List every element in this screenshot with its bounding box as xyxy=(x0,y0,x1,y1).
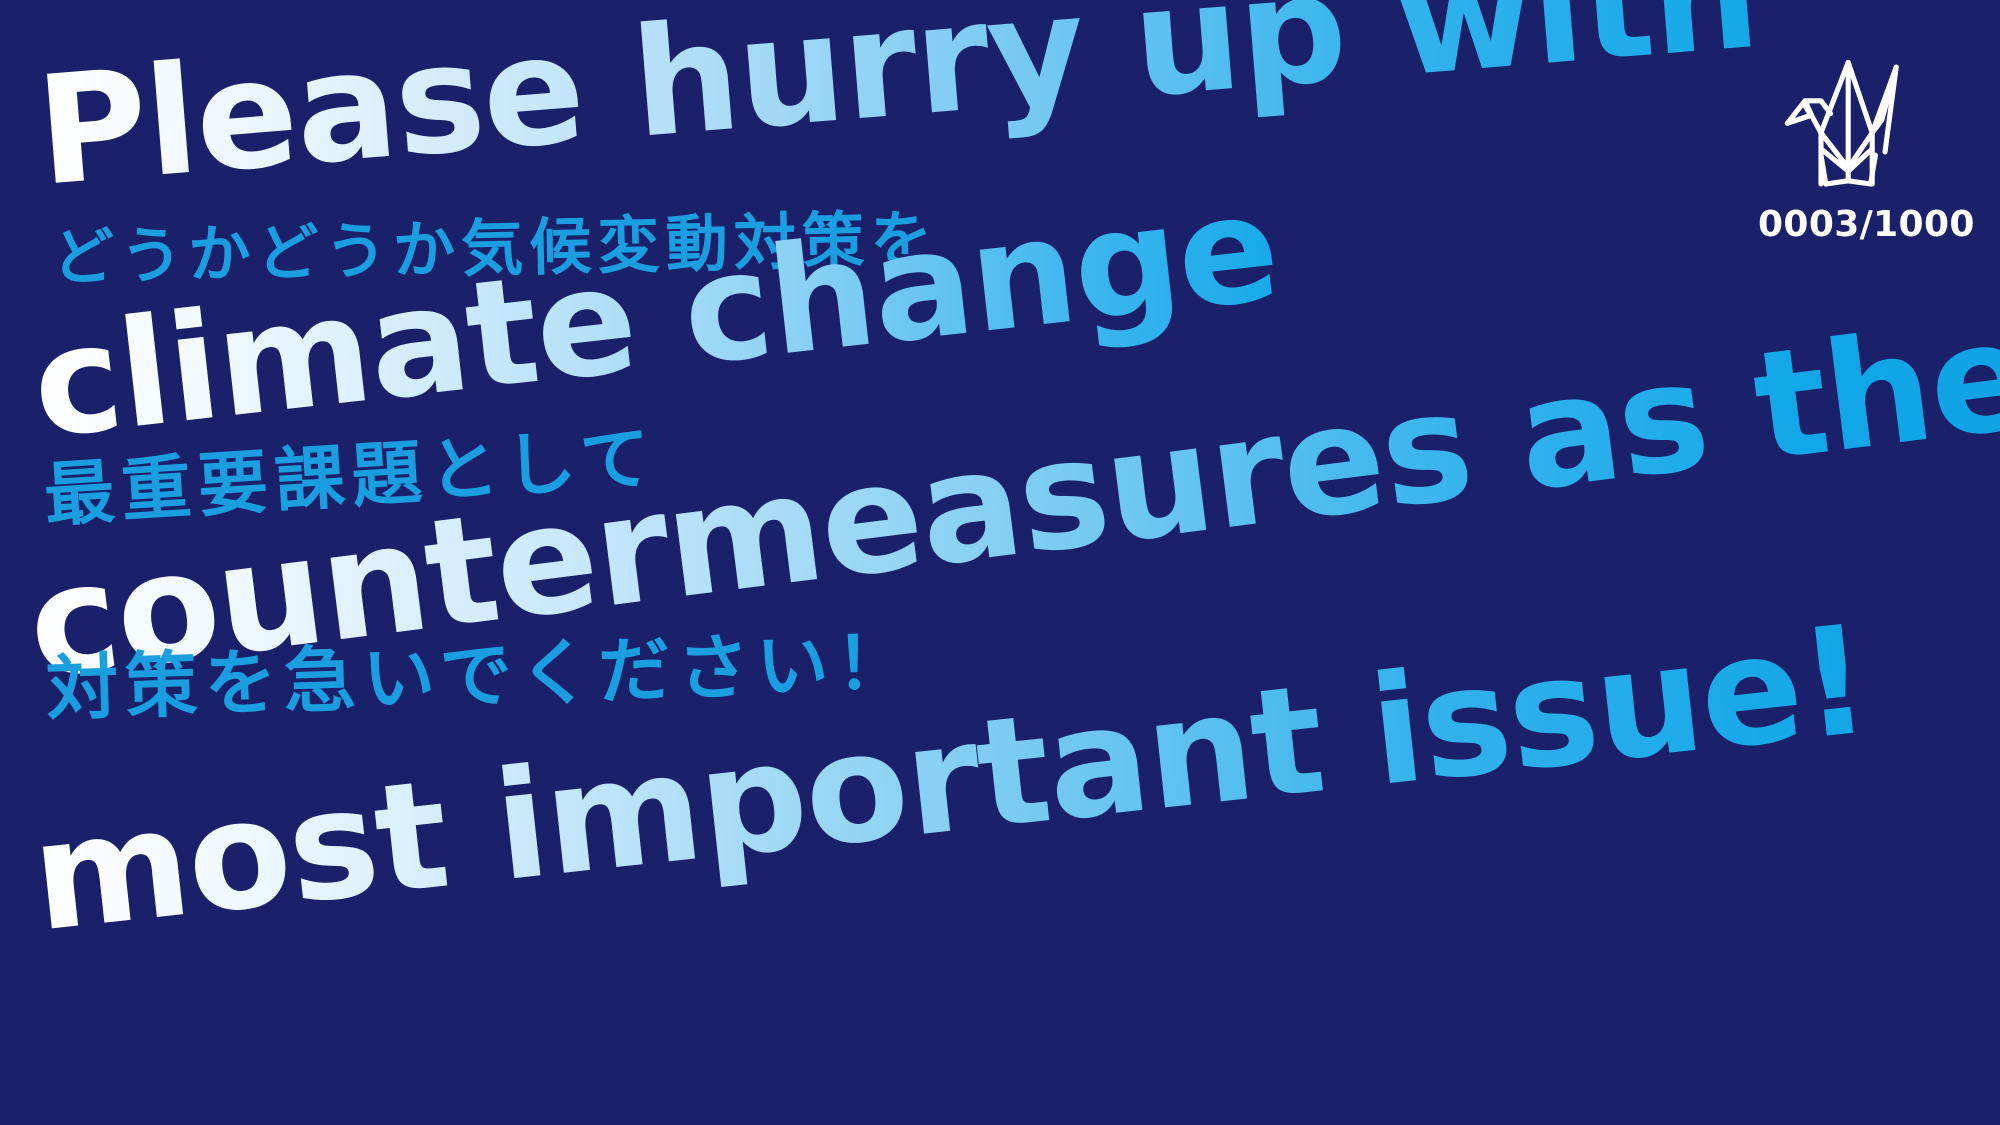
origami-crane-icon xyxy=(1758,40,1948,200)
logo-block: 0003/1000 xyxy=(1758,40,1948,245)
crane-counter: 0003/1000 xyxy=(1758,204,1948,245)
poster-canvas: Please hurry up with どうかどうか気候変動対策を clima… xyxy=(0,0,2000,1125)
